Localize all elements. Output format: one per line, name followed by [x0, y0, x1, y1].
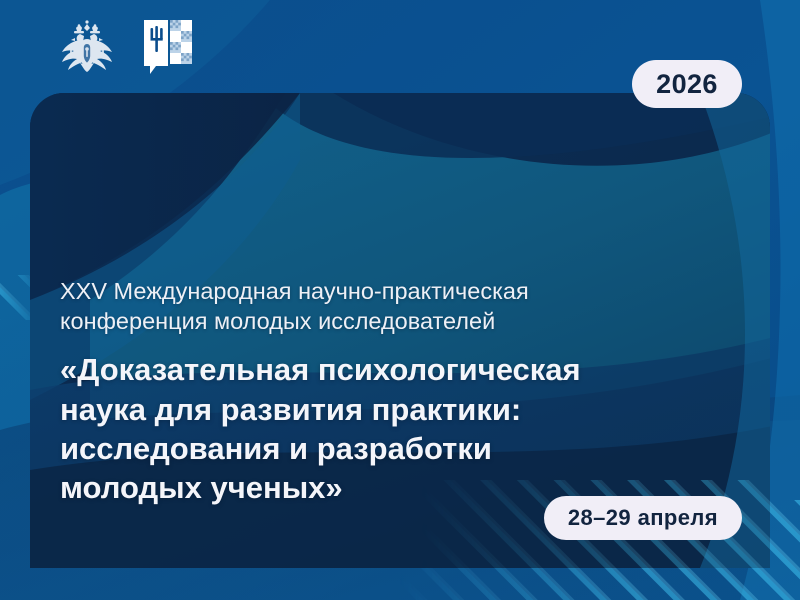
title-line-3: исследования и разработки	[60, 429, 720, 468]
conference-poster: 2026 XXV Международная научно-практическ…	[0, 0, 800, 600]
double-headed-eagle-icon	[56, 18, 118, 80]
subtitle-line-1: XXV Международная научно-практическая	[60, 276, 720, 306]
poster-text-block: XXV Международная научно-практическая ко…	[60, 276, 720, 508]
logo-group	[56, 18, 196, 80]
title-line-2: наука для развития практики:	[60, 390, 720, 429]
date-badge: 28–29 апреля	[544, 496, 742, 540]
title-line-1: «Доказательная психологическая	[60, 350, 720, 389]
year-badge-label: 2026	[656, 69, 718, 100]
subtitle-line-2: конференция молодых исследователей	[60, 306, 720, 336]
year-badge: 2026	[632, 60, 742, 108]
psi-shield-icon	[140, 18, 196, 80]
conference-subtitle: XXV Международная научно-практическая ко…	[60, 276, 720, 336]
conference-title: «Доказательная психологическая наука для…	[60, 350, 720, 507]
date-badge-label: 28–29 апреля	[568, 505, 718, 531]
